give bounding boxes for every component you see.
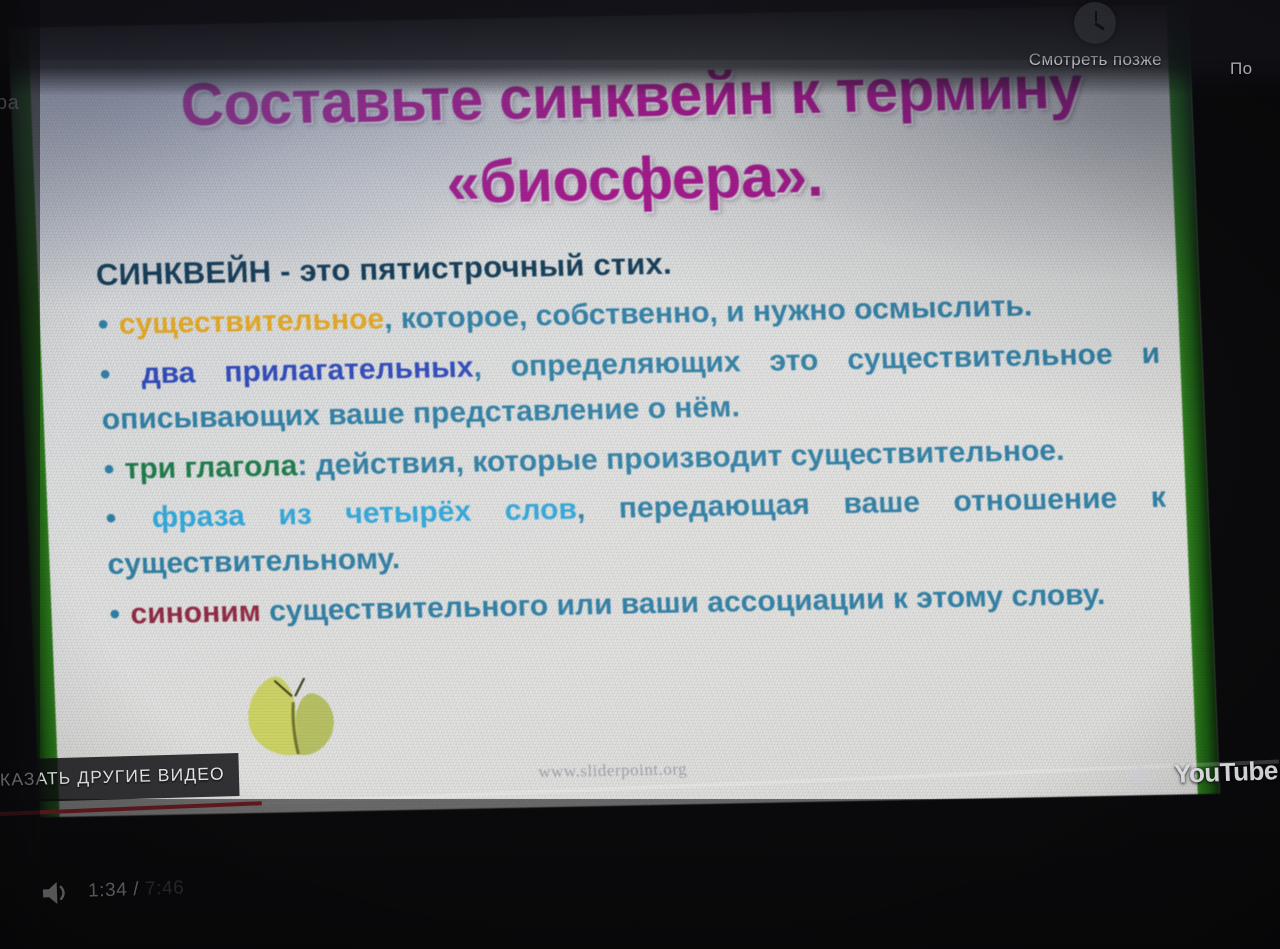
bezel-bottom	[0, 799, 1280, 949]
share-button[interactable]: По	[1230, 59, 1274, 79]
youtube-logo[interactable]: YouTube	[1173, 755, 1278, 790]
photo-of-monitor: Составьте синквейн к термину «биосфера».…	[0, 0, 1280, 949]
bezel-top	[0, 0, 1280, 60]
gear-icon[interactable]	[1128, 763, 1155, 790]
